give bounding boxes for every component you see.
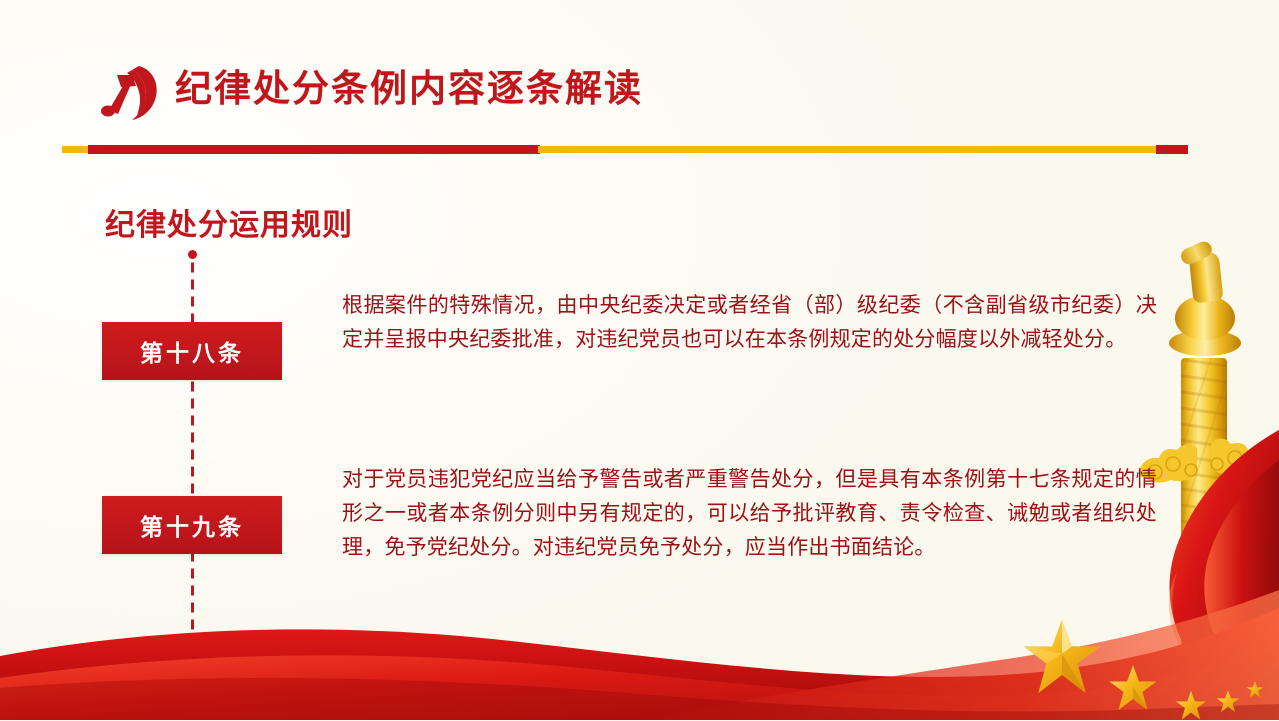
pillar-drum: [1175, 296, 1235, 340]
article-row: 第十八条 根据案件的特殊情况，由中央纪委决定或者经省（部）级纪委（不含副省级市纪…: [102, 322, 1062, 382]
gold-star-medium-icon: [1108, 664, 1158, 712]
section-heading: 纪律处分运用规则: [105, 200, 353, 244]
page-title: 纪律处分条例内容逐条解读: [175, 58, 643, 112]
gold-star-tiny-icon: [1216, 690, 1240, 713]
rule-segment-gold-left: [62, 146, 90, 153]
rule-segment-gold: [538, 146, 1158, 153]
header-rule: [0, 145, 1279, 154]
article-text: 对于党员违犯党纪应当给予警告或者严重警告处分，但是具有本条例第十七条规定的情形之…: [342, 463, 1157, 565]
gold-star-small-icon: [1175, 690, 1207, 721]
article-row: 第十九条 对于党员违犯党纪应当给予警告或者严重警告处分，但是具有本条例第十七条规…: [102, 496, 1062, 556]
rule-segment-red-right: [1156, 145, 1188, 154]
article-text: 根据案件的特殊情况，由中央纪委决定或者经省（部）级纪委（不含副省级市纪委）决定并…: [342, 289, 1157, 357]
article-badge[interactable]: 第十八条: [102, 322, 282, 380]
pillar-beast-icon: [1188, 251, 1223, 304]
gold-star-large-icon: [1021, 617, 1103, 697]
rule-segment-red: [88, 145, 540, 154]
hammer-sickle-icon: [96, 62, 166, 124]
article-badge[interactable]: 第十九条: [102, 496, 282, 554]
page-header: 纪律处分条例内容逐条解读: [0, 40, 1279, 160]
gold-star-micro-icon: [1246, 681, 1264, 698]
